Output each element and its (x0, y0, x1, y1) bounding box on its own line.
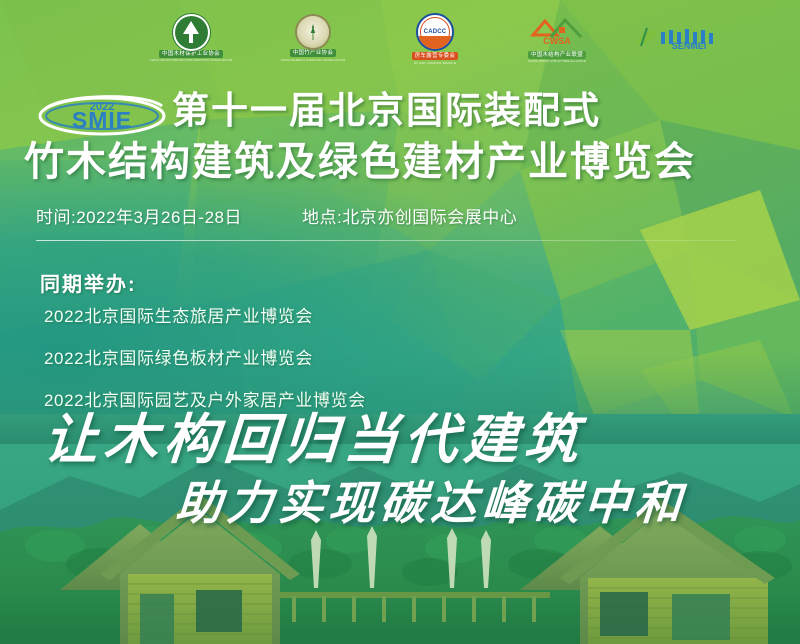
meta-divider (36, 240, 736, 241)
headline-line-2: 竹木结构建筑及绿色建材产业博览会 (24, 142, 696, 182)
sponsor-logo-1-en: CHINA WOOD PROTECTION INDUSTRY ASSOCIATI… (150, 58, 233, 62)
smie-logo: 2022 SMIE (36, 90, 168, 136)
sponsor-logo-3-cn: 房车露营专委会 (412, 52, 459, 60)
concurrent-heading: 同期举办: (40, 268, 137, 297)
house-roof-icon: CWSA (529, 15, 585, 50)
bamboo-seal-icon (297, 16, 329, 48)
cadcc-abbr: CADCC (424, 29, 447, 35)
slogan-line-2: 助力实现碳达峰碳中和 (174, 480, 687, 526)
sponsor-logo-1: 中国木材保护工业协会 CHINA WOOD PROTECTION INDUSTR… (143, 8, 239, 70)
sponsor-logo-3: CADCC 房车露营专委会 RV AND CAMPING BRANCH (387, 8, 483, 70)
sponsor-logo-strip: 中国木材保护工业协会 CHINA WOOD PROTECTION INDUSTR… (0, 0, 800, 78)
concurrent-event-item: 2022北京国际生态旅居产业博览会 (44, 302, 366, 327)
concurrent-events-list: 2022北京国际生态旅居产业博览会 2022北京国际绿色板材产业博览会 2022… (44, 302, 366, 411)
sponsor-logo-5: SENMEI (631, 8, 727, 70)
senmei-abbr: SENMEI (672, 41, 707, 51)
sponsor-logo-1-cn: 中国木材保护工业协会 (159, 50, 223, 58)
event-meta: 时间:2022年3月26日-28日 地点:北京亦创国际会展中心 (36, 203, 517, 228)
cadcc-roundel-icon: CADCC (416, 13, 454, 51)
sponsor-logo-3-en: RV AND CAMPING BRANCH (414, 61, 456, 65)
smie-abbr: SMIE (72, 107, 132, 133)
concurrent-event-item: 2022北京国际绿色板材产业博览会 (44, 344, 366, 369)
sponsor-logo-2-cn: 中国竹产业协会 (290, 49, 337, 57)
exhibition-poster: 中国木材保护工业协会 CHINA WOOD PROTECTION INDUSTR… (0, 0, 800, 644)
senmei-leaf-icon: SENMEI (633, 22, 725, 57)
sponsor-logo-4-cn: 中国木结构产业联盟 (528, 51, 586, 59)
svg-text:CWSA: CWSA (543, 36, 571, 45)
event-venue: 地点:北京亦创国际会展中心 (302, 203, 517, 228)
sponsor-logo-2-en: CHINA BAMBOO INDUSTRY ASSOCIATION (281, 58, 346, 62)
sponsor-logo-4-en: CHINA WOOD STRUCTURE ALLIANCE (528, 59, 586, 63)
slogan-line-1: 让木构回归当代建筑 (42, 412, 586, 466)
event-date: 时间:2022年3月26日-28日 (36, 203, 242, 228)
headline-line-1: 第十一届北京国际装配式 (172, 92, 601, 129)
tree-emblem-icon (175, 16, 208, 49)
sponsor-logo-4: CWSA 中国木结构产业联盟 CHINA WOOD STRUCTURE ALLI… (509, 8, 605, 70)
sponsor-logo-2: 中国竹产业协会 CHINA BAMBOO INDUSTRY ASSOCIATIO… (265, 8, 361, 70)
